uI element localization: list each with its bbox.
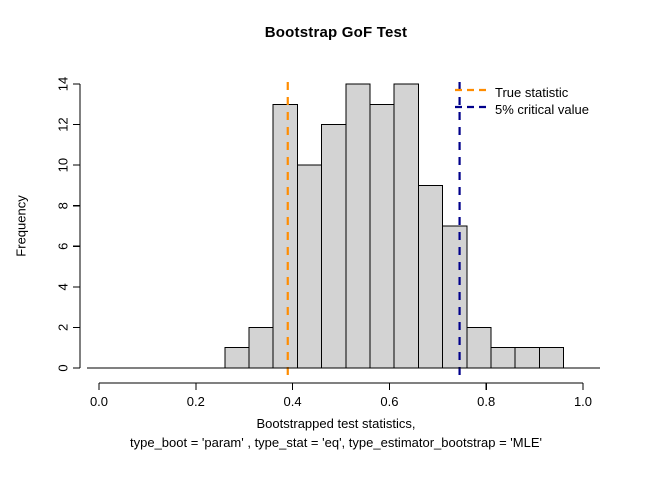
histogram-bars — [225, 84, 564, 368]
histogram-bar — [418, 185, 442, 368]
histogram-bar — [225, 348, 249, 368]
x-axis-tick-label: 0.2 — [187, 394, 205, 409]
histogram-bar — [346, 84, 370, 368]
histogram-bar — [539, 348, 563, 368]
y-axis-tick-label: 6 — [55, 243, 70, 250]
y-axis-tick-label: 4 — [55, 283, 70, 290]
legend-item-true-statistic: True statistic — [495, 84, 589, 101]
x-axis-tick-label: 0.4 — [284, 394, 302, 409]
y-axis-tick-label: 0 — [55, 364, 70, 371]
legend: True statistic 5% critical value — [495, 84, 589, 118]
plot-canvas: 0.00.20.40.60.81.002468101214 Frequency — [0, 0, 672, 480]
histogram-bar — [297, 165, 321, 368]
histogram-bar — [370, 104, 394, 368]
x-axis-title-line-1: Bootstrapped test statistics, — [0, 414, 672, 433]
x-axis-title-line-2: type_boot = 'param' , type_stat = 'eq', … — [0, 433, 672, 452]
histogram-bar — [273, 104, 297, 368]
histogram-bar — [491, 348, 515, 368]
y-axis-title: Frequency — [13, 195, 28, 257]
x-axis-tick-label: 0.6 — [380, 394, 398, 409]
y-axis-tick-label: 14 — [55, 77, 70, 91]
histogram-bar — [443, 226, 467, 368]
y-axis-tick-label: 10 — [55, 158, 70, 172]
histogram-bar — [322, 125, 346, 368]
y-axis-tick-label: 2 — [55, 324, 70, 331]
y-axis-tick-label: 12 — [55, 117, 70, 131]
histogram-bar — [394, 84, 418, 368]
histogram-bar — [249, 327, 273, 368]
x-axis-tick-label: 0.0 — [90, 394, 108, 409]
histogram-bar — [467, 327, 491, 368]
y-axis-title-text: Frequency — [13, 195, 28, 257]
x-axis-title: Bootstrapped test statistics, type_boot … — [0, 414, 672, 452]
x-axis-tick-label: 0.8 — [477, 394, 495, 409]
y-axis-tick-label: 8 — [55, 202, 70, 209]
histogram-bar — [515, 348, 539, 368]
x-axis-tick-label: 1.0 — [574, 394, 592, 409]
legend-item-critical-value: 5% critical value — [495, 101, 589, 118]
bootstrap-gof-histogram-plot: Bootstrap GoF Test 0.00.20.40.60.81.0024… — [0, 0, 672, 480]
